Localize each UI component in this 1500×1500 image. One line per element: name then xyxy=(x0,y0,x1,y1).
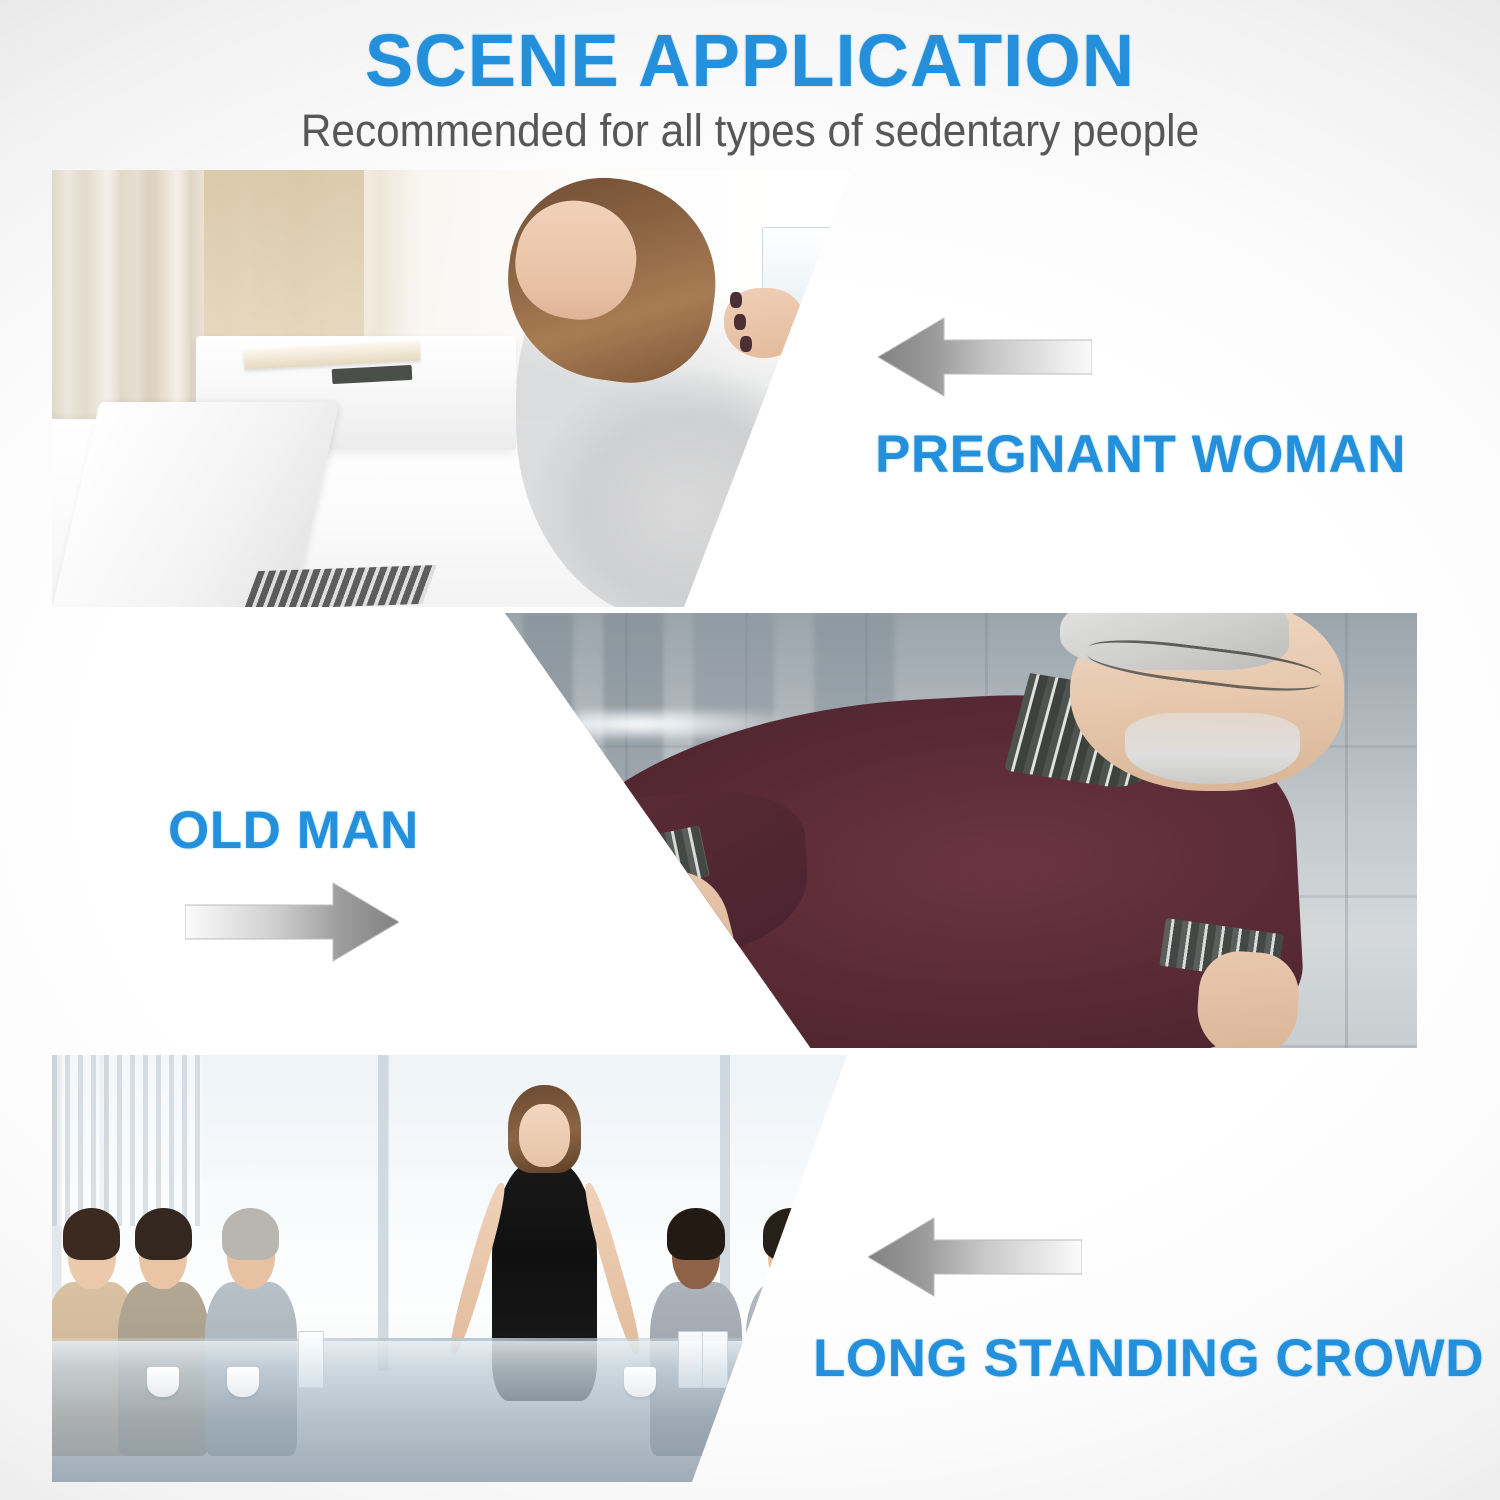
nail-decor xyxy=(730,292,742,308)
coffee-cup-decor xyxy=(147,1367,179,1397)
photo-pregnant-woman xyxy=(52,170,852,607)
water-glass-decor xyxy=(702,1331,728,1389)
man-beard-decor xyxy=(1125,713,1300,783)
header-block: SCENE APPLICATION Recommended for all ty… xyxy=(0,22,1500,155)
forearm-decor xyxy=(1195,949,1302,1048)
water-glass-decor xyxy=(678,1331,704,1389)
photo-long-standing-crowd xyxy=(52,1055,847,1482)
water-glass-decor xyxy=(298,1331,324,1389)
seated-hair-decor xyxy=(63,1208,120,1261)
standing-woman-face-decor xyxy=(519,1104,570,1167)
seated-hair-decor xyxy=(222,1208,279,1261)
nail-decor xyxy=(734,314,746,330)
scene-application-poster: SCENE APPLICATION Recommended for all ty… xyxy=(0,0,1500,1500)
coffee-cup-decor xyxy=(227,1367,259,1397)
seated-hair-decor xyxy=(667,1208,724,1261)
left-arrow-icon xyxy=(868,1213,1082,1299)
left-arrow-icon xyxy=(878,313,1092,399)
hand-decor xyxy=(724,288,804,358)
conference-table-decor xyxy=(52,1341,847,1482)
photo-panel-long-standing-crowd xyxy=(52,1055,847,1482)
scene-label-pregnant-woman: PREGNANT WOMAN xyxy=(875,424,1406,485)
page-subtitle: Recommended for all types of sedentary p… xyxy=(45,106,1455,156)
table-edge-decor xyxy=(52,1338,847,1341)
coffee-cup-decor xyxy=(624,1367,656,1397)
plaid-sleeve-decor xyxy=(565,826,710,905)
right-arrow-icon xyxy=(185,878,399,964)
nail-decor xyxy=(740,336,752,352)
man-arm-decor xyxy=(527,788,811,967)
scene-label-long-standing-crowd: LONG STANDING CROWD xyxy=(813,1328,1484,1389)
blinds-decor xyxy=(52,1055,203,1226)
man-head-decor xyxy=(1070,613,1344,791)
photo-panel-pregnant-woman xyxy=(52,170,852,607)
laptop-keyboard-decor xyxy=(244,565,437,607)
page-title: SCENE APPLICATION xyxy=(15,22,1485,100)
seated-hair-decor xyxy=(135,1208,192,1261)
photo-old-man xyxy=(505,613,1417,1048)
scene-label-old-man: OLD MAN xyxy=(168,800,419,861)
photo-panel-old-man xyxy=(505,613,1417,1048)
seated-hair-decor xyxy=(763,1208,820,1261)
